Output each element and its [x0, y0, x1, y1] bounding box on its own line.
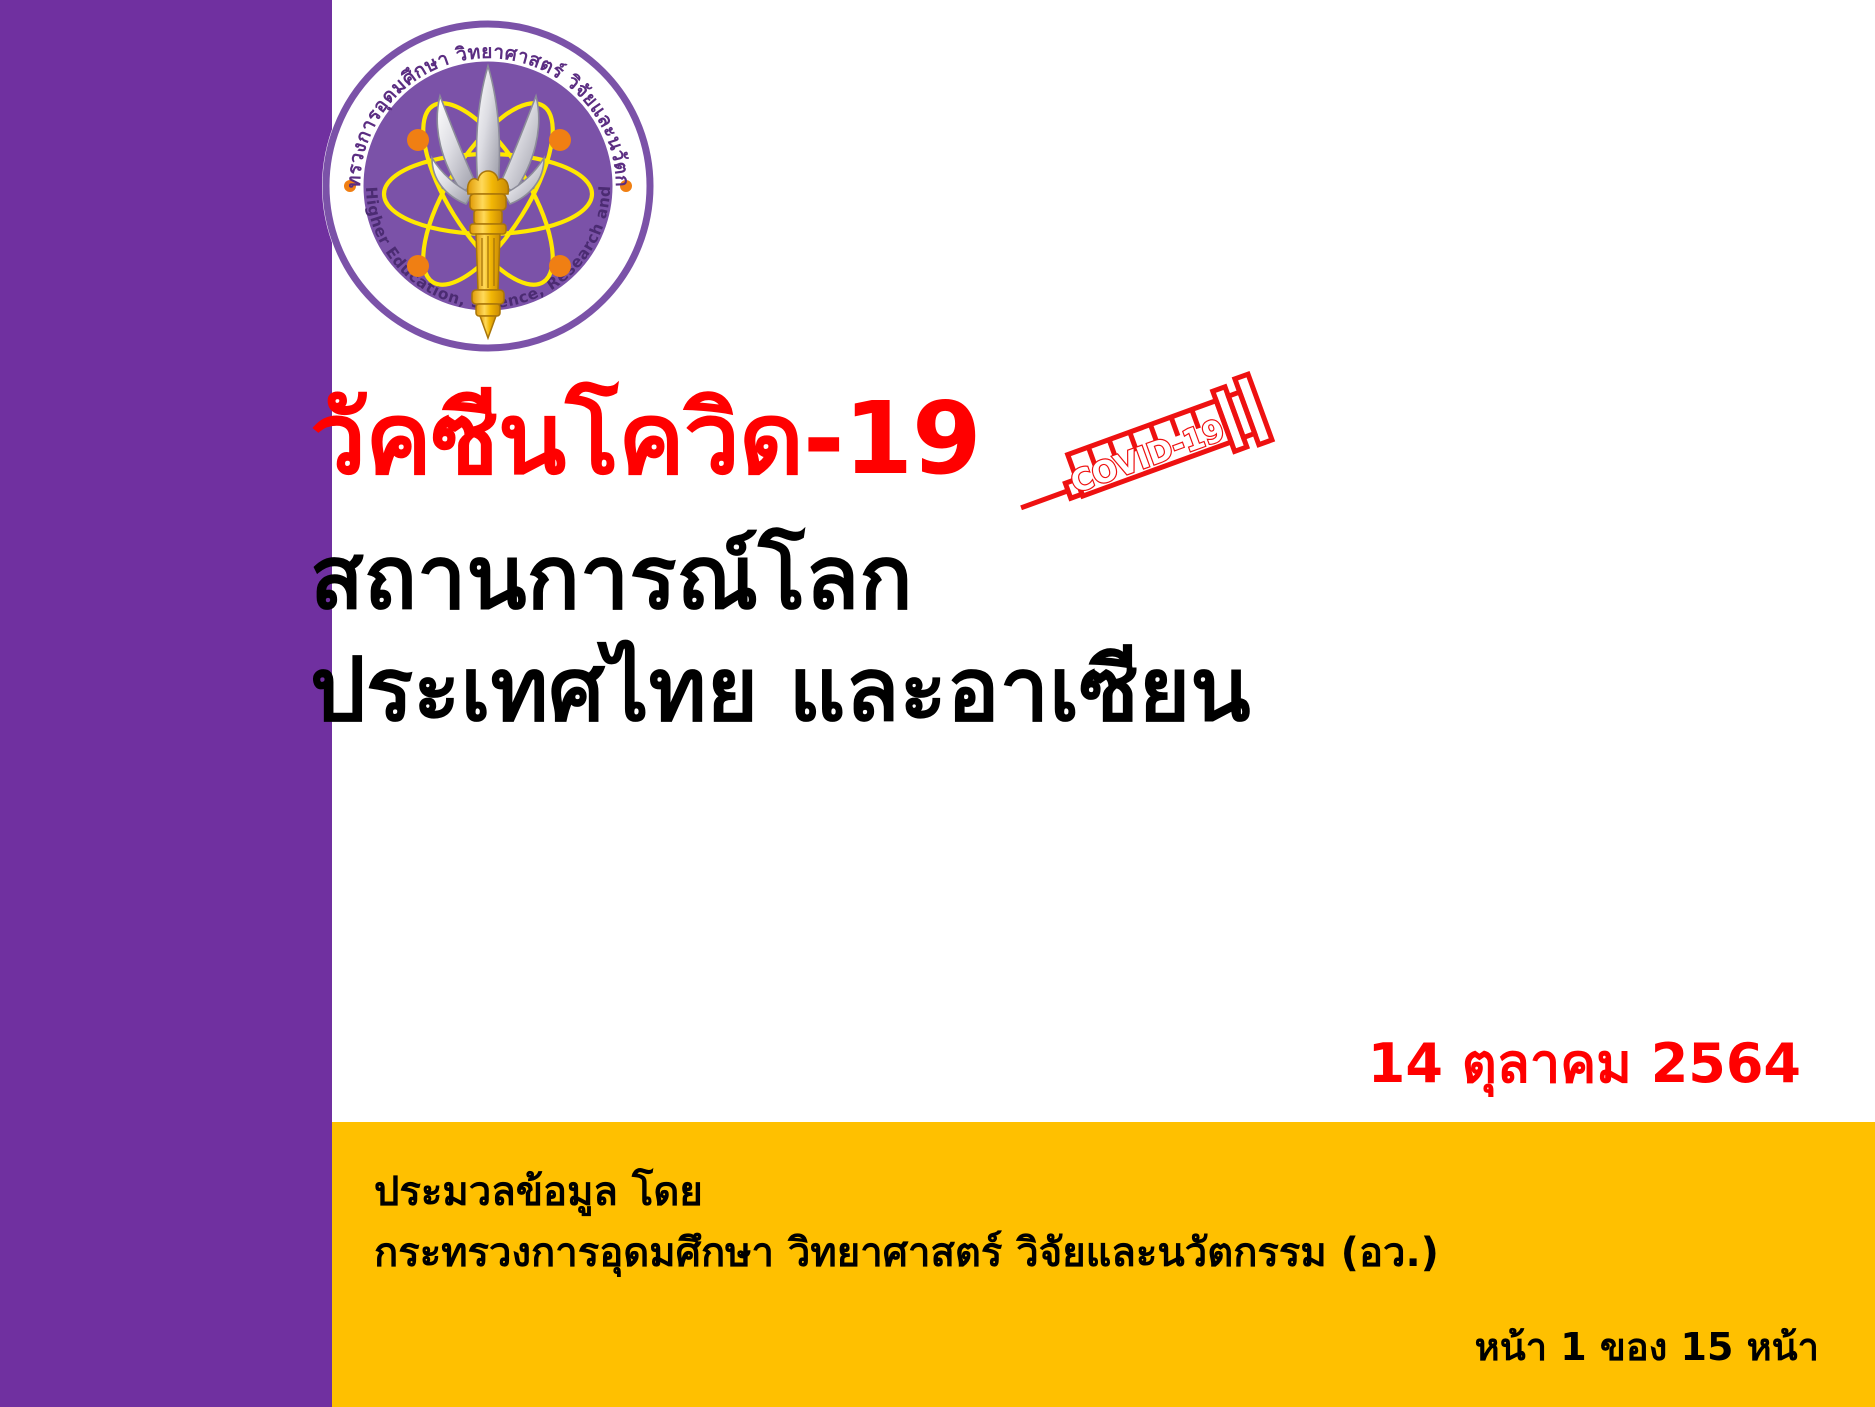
footer-credit-line-2: กระทรวงการอุดมศึกษา วิทยาศาสตร์ วิจัยและ… [374, 1223, 1439, 1284]
page-number: หน้า 1 ของ 15 หน้า [1475, 1316, 1819, 1377]
left-purple-band [0, 0, 332, 1407]
syringe-icon: COVID-19 [999, 370, 1289, 520]
footer-yellow-band: ประมวลข้อมูล โดย กระทรวงการอุดมศึกษา วิท… [332, 1122, 1875, 1407]
page-title-vaccine: วัคซีนโควิด-19 [310, 389, 981, 489]
title-red-row: วัคซีนโควิด-19 [310, 380, 1810, 498]
slide-canvas: กระทรวงการอุดมศึกษา วิทยาศาสตร์ วิจัยและ… [0, 0, 1875, 1407]
subtitle-world-situation: สถานการณ์โลก [310, 526, 1810, 630]
footer-credit-line-1: ประมวลข้อมูล โดย [374, 1162, 1439, 1223]
ministry-logo: กระทรวงการอุดมศึกษา วิทยาศาสตร์ วิจัยและ… [320, 18, 656, 354]
report-date: 14 ตุลาคม 2564 [1368, 1020, 1801, 1106]
subtitle-thailand-asean: ประเทศไทย และอาเซียน [310, 638, 1810, 742]
title-block: วัคซีนโควิด-19 [310, 380, 1810, 742]
footer-credit: ประมวลข้อมูล โดย กระทรวงการอุดมศึกษา วิท… [374, 1162, 1439, 1284]
